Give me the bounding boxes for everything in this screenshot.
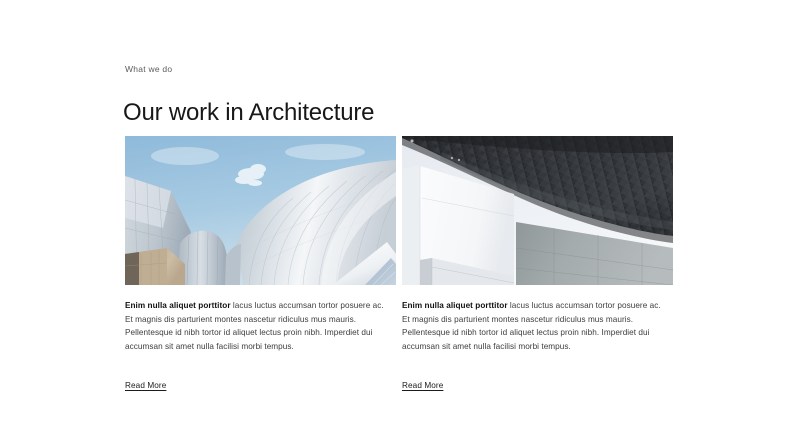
card-lead: Enim nulla aliquet porttitor	[402, 301, 508, 310]
card-grid: Enim nulla aliquet porttitor lacus luctu…	[125, 136, 673, 393]
card-item: Enim nulla aliquet porttitor lacus luctu…	[125, 136, 396, 393]
section-eyebrow: What we do	[125, 63, 172, 75]
read-more-link[interactable]: Read More	[402, 380, 443, 392]
card-description: Enim nulla aliquet porttitor lacus luctu…	[125, 299, 390, 353]
disney-concert-hall-photo	[125, 136, 396, 285]
louvre-abu-dhabi-photo	[402, 136, 673, 285]
card-lead: Enim nulla aliquet porttitor	[125, 301, 231, 310]
card-item: Enim nulla aliquet porttitor lacus luctu…	[402, 136, 673, 393]
read-more-link[interactable]: Read More	[125, 380, 166, 392]
louvre-abu-dhabi-illustration	[402, 136, 673, 285]
page-root: What we do Our work in Architecture	[0, 0, 800, 444]
disney-concert-hall-illustration	[125, 136, 396, 285]
card-description: Enim nulla aliquet porttitor lacus luctu…	[402, 299, 667, 353]
page-title: Our work in Architecture	[123, 98, 374, 128]
